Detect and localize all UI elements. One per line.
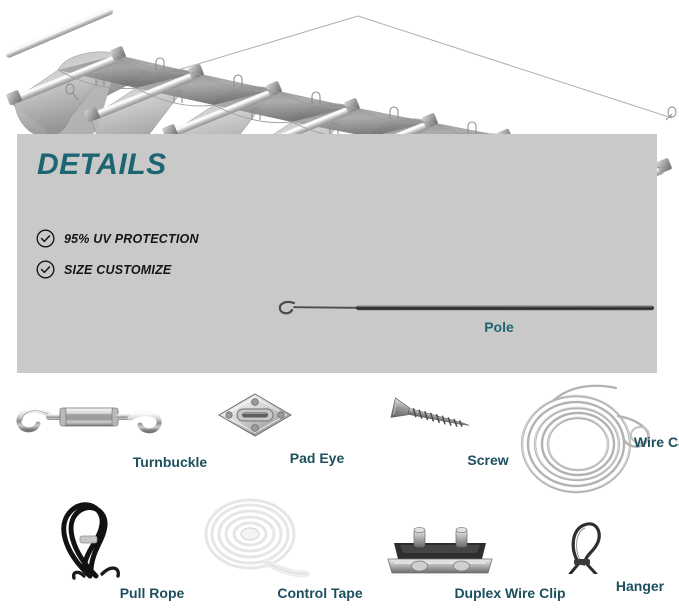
control-tape-roll-icon <box>190 490 320 582</box>
pad-eye-plate-icon <box>193 384 317 446</box>
accessory-item-wire-cable[interactable]: Wire Cable <box>490 380 670 505</box>
screw-icon <box>370 386 488 448</box>
accessory-item-pad-eye[interactable]: Pad Eye <box>193 384 317 478</box>
feature-item-uv-protection: 95% UV PROTECTION <box>36 229 199 248</box>
check-circle-icon <box>36 260 55 279</box>
accessory-item-turnbuckle[interactable]: Turnbuckle <box>10 388 170 478</box>
product-detail-infographic: DETAILS 95% UV PROTECTION SIZE CUSTOMIZE <box>0 0 679 611</box>
feature-label: SIZE CUSTOMIZE <box>64 263 171 277</box>
accessory-label: Control Tape <box>255 585 385 601</box>
accessory-label: Wire Cable <box>580 434 679 450</box>
accessory-label: Hanger <box>585 578 679 594</box>
pole-label-wrap: Pole <box>17 319 657 335</box>
accessory-item-pull-rope[interactable]: Pull Rope <box>28 490 152 608</box>
accessory-label: Pad Eye <box>255 450 379 466</box>
pole-label: Pole <box>484 319 514 335</box>
feature-label: 95% UV PROTECTION <box>64 232 199 246</box>
accessory-item-duplex-wire-clip[interactable]: Duplex Wire Clip <box>370 525 510 608</box>
accessory-item-control-tape[interactable]: Control Tape <box>190 490 320 608</box>
accessory-item-hanger[interactable]: Hanger <box>530 518 640 608</box>
details-panel: DETAILS 95% UV PROTECTION SIZE CUSTOMIZE <box>17 134 657 373</box>
check-circle-icon <box>36 229 55 248</box>
turnbuckle-icon <box>10 388 170 448</box>
hanger-clip-icon <box>530 518 640 574</box>
accessories-grid: Turnbuckle <box>0 380 679 611</box>
pull-rope-icon <box>28 490 152 582</box>
page-title: DETAILS <box>37 150 167 180</box>
accessory-item-screw[interactable]: Screw <box>370 386 488 478</box>
duplex-wire-clip-icon <box>370 525 510 581</box>
feature-item-size-customize: SIZE CUSTOMIZE <box>36 260 171 279</box>
